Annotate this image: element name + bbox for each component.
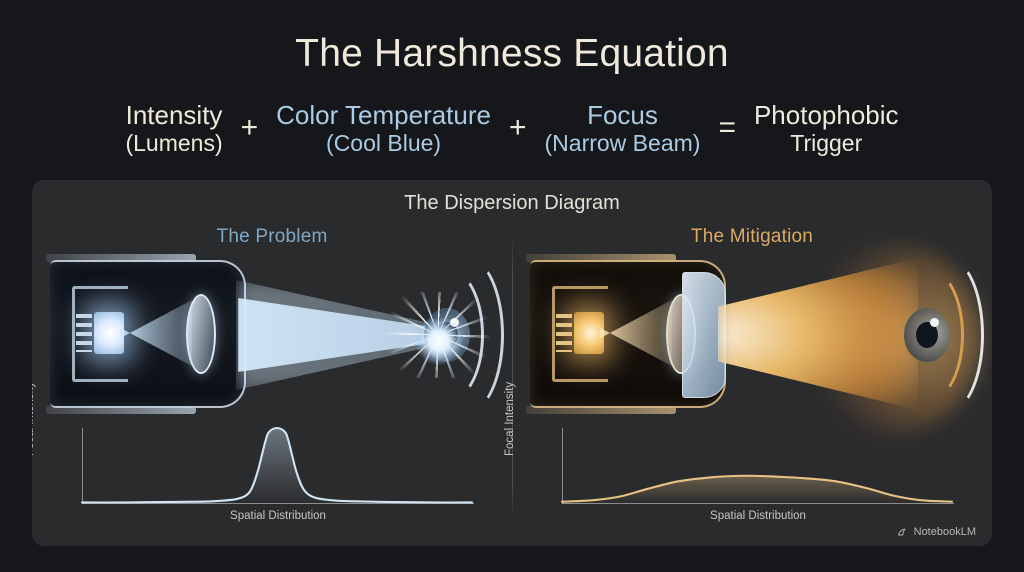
equation-term-photophobic-trigger: Photophobic Trigger: [754, 100, 899, 157]
equation-term-color-temperature: Color Temperature (Cool Blue): [276, 100, 491, 157]
led-contacts-icon: [76, 314, 92, 352]
torch-rail-top: [526, 254, 676, 262]
equation-term-focus: Focus (Narrow Beam): [545, 100, 701, 157]
notebooklm-icon: [897, 526, 909, 538]
term-line1: Color Temperature: [276, 100, 491, 130]
torch-rail-top: [46, 254, 196, 262]
mitigation-curve-svg: [562, 428, 952, 504]
mitigation-label: The Mitigation: [512, 226, 992, 248]
equation-operator-plus-2: +: [507, 111, 529, 145]
problem-curve-svg: [82, 428, 472, 504]
problem-chart-xlabel: Spatial Distribution: [82, 510, 474, 522]
eye-glare-icon: [430, 256, 506, 414]
dispersion-panel: The Dispersion Diagram The Problem: [32, 180, 992, 546]
eye-relaxed-icon: [910, 256, 986, 414]
equation-operator-equals: =: [716, 111, 738, 145]
watermark-label: NotebookLM: [914, 526, 976, 538]
mitigation-chart: Focal Intensity Sp: [512, 422, 992, 534]
cool-led-emitter-icon: [94, 312, 124, 354]
term-line1: Focus: [587, 100, 658, 130]
term-line1: Photophobic: [754, 100, 899, 130]
mitigation-illustration: [512, 252, 992, 417]
problem-side: The Problem: [32, 180, 512, 546]
collimating-lens-icon: [186, 294, 216, 374]
page-title: The Harshness Equation: [0, 32, 1024, 76]
problem-label: The Problem: [32, 226, 512, 248]
slide-root: The Harshness Equation Intensity (Lumens…: [0, 0, 1024, 572]
mitigation-chart-xlabel: Spatial Distribution: [562, 510, 954, 522]
term-line2: Trigger: [790, 130, 862, 157]
harshness-equation: Intensity (Lumens) + Color Temperature (…: [0, 100, 1024, 157]
warm-led-emitter-icon: [574, 312, 604, 354]
term-line2: (Narrow Beam): [545, 130, 701, 157]
problem-chart: Focal Intensity Sp: [32, 422, 512, 534]
mitigation-side: The Mitigation: [512, 180, 992, 546]
glare-core: [416, 318, 462, 364]
problem-chart-plotarea: [82, 428, 472, 504]
equation-term-intensity: Intensity (Lumens): [125, 100, 222, 157]
eye-inner-lid: [896, 269, 964, 401]
equation-operator-plus-1: +: [239, 111, 261, 145]
watermark: NotebookLM: [897, 526, 976, 538]
problem-illustration: [32, 252, 512, 417]
led-contacts-icon: [556, 314, 572, 352]
term-line2: (Cool Blue): [326, 130, 441, 157]
term-line1: Intensity: [126, 100, 223, 130]
term-line2: (Lumens): [125, 130, 222, 157]
mitigation-chart-plotarea: [562, 428, 952, 504]
